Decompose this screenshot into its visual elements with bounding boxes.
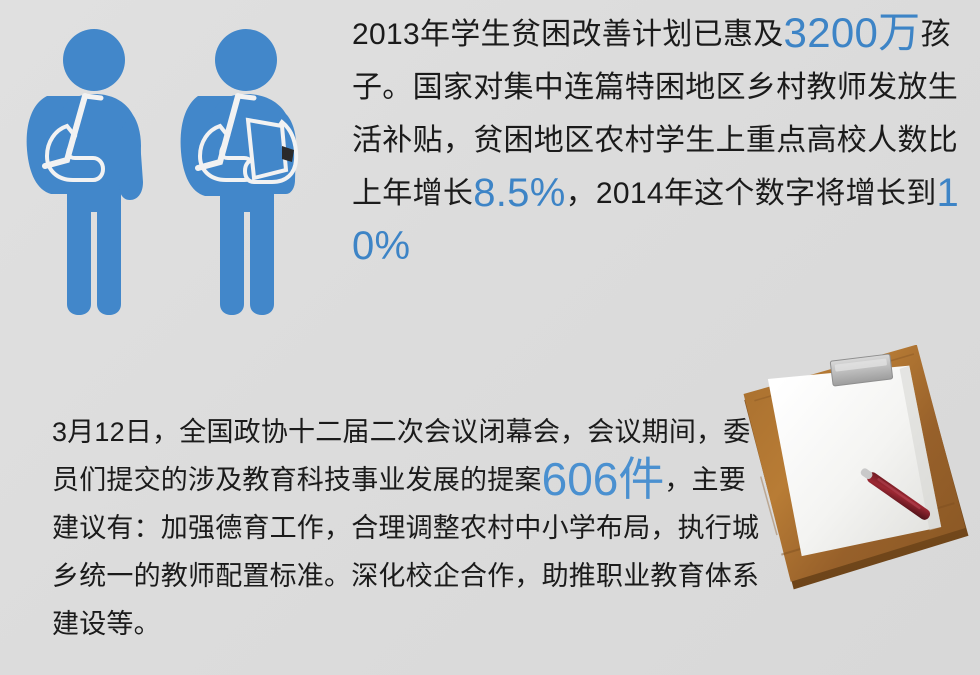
stat-students-benefited: 3200万 (784, 9, 921, 56)
student-figure-right-icon (178, 22, 318, 317)
infographic-canvas: 2013年学生贫困改善计划已惠及3200万孩子。国家对集中连篇特困地区乡村教师发… (0, 0, 980, 675)
student-figure-left-icon (23, 22, 163, 317)
bottom-paragraph: 3月12日，全国政协十二届二次会议闭幕会，会议期间，委员们提交的涉及教育科技事业… (52, 408, 764, 648)
top-paragraph: 2013年学生贫困改善计划已惠及3200万孩子。国家对集中连篇特困地区乡村教师发… (352, 8, 978, 273)
stat-growth-rate-2013: 8.5% (473, 171, 565, 215)
stat-proposals-count: 606件 (542, 453, 665, 505)
clipboard-photo (735, 345, 980, 595)
top-text-segment-1: 2013年学生贫困改善计划已惠及 (352, 18, 784, 51)
top-text-segment-3: ，2014年这个数字将增长到 (566, 177, 937, 210)
students-illustration (18, 22, 328, 317)
